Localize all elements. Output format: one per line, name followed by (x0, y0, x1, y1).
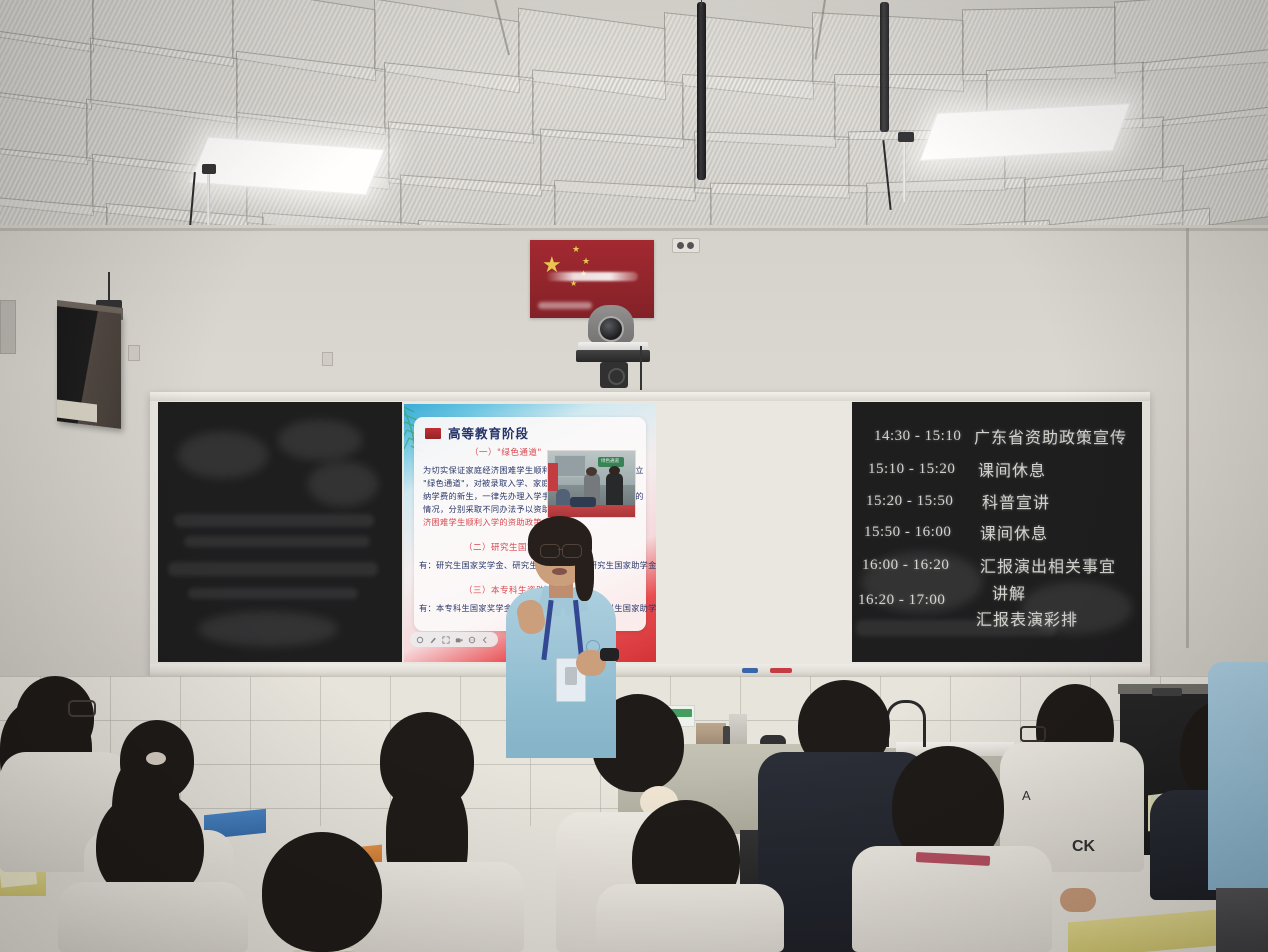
badge-photo (565, 667, 577, 685)
student-back-0-glasses (68, 700, 96, 717)
national-flag: ★ ★ ★ ★ ★ (530, 240, 654, 318)
desk-box-grey (729, 714, 747, 746)
slide-title: 高等教育阶段 (448, 423, 529, 442)
classroom-photo: ★ ★ ★ ★ ★ 14:30 - 15:10 (0, 0, 1268, 952)
student-front-2-body (596, 884, 784, 952)
tray-marker-blue (742, 668, 758, 673)
camera-lens-icon (598, 316, 624, 342)
student-hand (1060, 888, 1096, 912)
suspended-ceiling (0, 0, 1268, 240)
schedule-activity-0: 广东省资助政策宣传 (974, 424, 1127, 448)
hanging-microphone-right (903, 140, 906, 202)
camera-mount-ring (608, 368, 625, 385)
flag-glare-2 (538, 302, 592, 309)
student-back-5-glasses (1020, 726, 1046, 742)
presenter-wristwatch (600, 648, 619, 661)
schedule-activity-1: 课间休息 (978, 457, 1046, 481)
presenter-glasses-right (562, 544, 582, 558)
board-top-trim (150, 392, 1150, 401)
hair-tie (146, 752, 166, 765)
blackboard-left (158, 402, 402, 662)
student-back-0-head (16, 676, 94, 758)
wall-plate-right (322, 352, 333, 366)
flag-glare (546, 272, 638, 281)
student-shirt-graphic-right: CK (1072, 838, 1120, 860)
schedule-activity-2: 科普宣讲 (982, 489, 1050, 513)
green-channel-label: 绿色通道 (601, 458, 619, 464)
more-icon[interactable] (468, 636, 476, 644)
slide-body-line-4: 济困难学生顺利入学的资助政策。 (423, 516, 550, 528)
standing-adult-legs (1216, 888, 1268, 952)
presenter-glasses-left (540, 544, 560, 558)
schedule-time-5: 16:20 - 17:00 (858, 592, 945, 609)
flag-star-4: ★ (570, 280, 577, 288)
desk-bottle (723, 726, 730, 746)
cabinet-gooseneck-lamp (886, 700, 926, 747)
tray-marker-red (770, 668, 792, 673)
schedule-time-0: 14:30 - 15:10 (874, 428, 961, 445)
presenter-glasses-bridge (558, 549, 563, 550)
flag-star-1: ★ (572, 245, 580, 254)
schedule-activity-4: 汇报演出相关事宜 (980, 553, 1116, 577)
schedule-activity-5: 讲解 (992, 580, 1026, 604)
hanging-microphone-center (697, 2, 706, 180)
wall-conduit-box (0, 300, 16, 354)
slide-body-line-3: 情况，分别采取不同办法予以资助。 (423, 503, 559, 515)
ceiling-sensor (672, 238, 700, 253)
standing-adult-torso (1208, 662, 1268, 890)
student-front-1-head (262, 832, 382, 952)
record-icon[interactable] (416, 636, 424, 644)
student-front-0-body (58, 882, 248, 952)
camera-cable (640, 346, 642, 390)
wall-corner (1186, 228, 1189, 648)
schedule-time-2: 15:20 - 15:50 (866, 493, 953, 510)
schedule-time-4: 16:00 - 16:20 (862, 557, 949, 574)
camera-icon[interactable] (455, 636, 463, 644)
wall-plate-left (128, 345, 140, 361)
schedule-extra-line: 汇报表演彩排 (976, 606, 1078, 630)
slide-heading-1: （一）"绿色通道" (470, 446, 542, 458)
student-shirt-graphic-center: A (1022, 788, 1070, 806)
pen-icon[interactable] (429, 636, 437, 644)
desk-box-brown (696, 723, 726, 745)
schedule-activity-3: 课间休息 (980, 520, 1048, 544)
display-toolbar[interactable] (410, 632, 498, 647)
presenter-mouth (552, 568, 567, 575)
back-icon[interactable] (481, 636, 489, 644)
schedule-time-3: 15:50 - 16:00 (864, 524, 951, 541)
select-icon[interactable] (442, 636, 450, 644)
dark-cabinet-handle[interactable] (1152, 688, 1182, 696)
schedule-time-1: 15:10 - 15:20 (868, 461, 955, 478)
slide-title-icon (425, 428, 441, 439)
camera-bracket (576, 350, 650, 362)
flag-star-2: ★ (582, 257, 590, 266)
wall-seam (0, 228, 1268, 231)
slide-photo: 绿色通道 (547, 450, 636, 518)
